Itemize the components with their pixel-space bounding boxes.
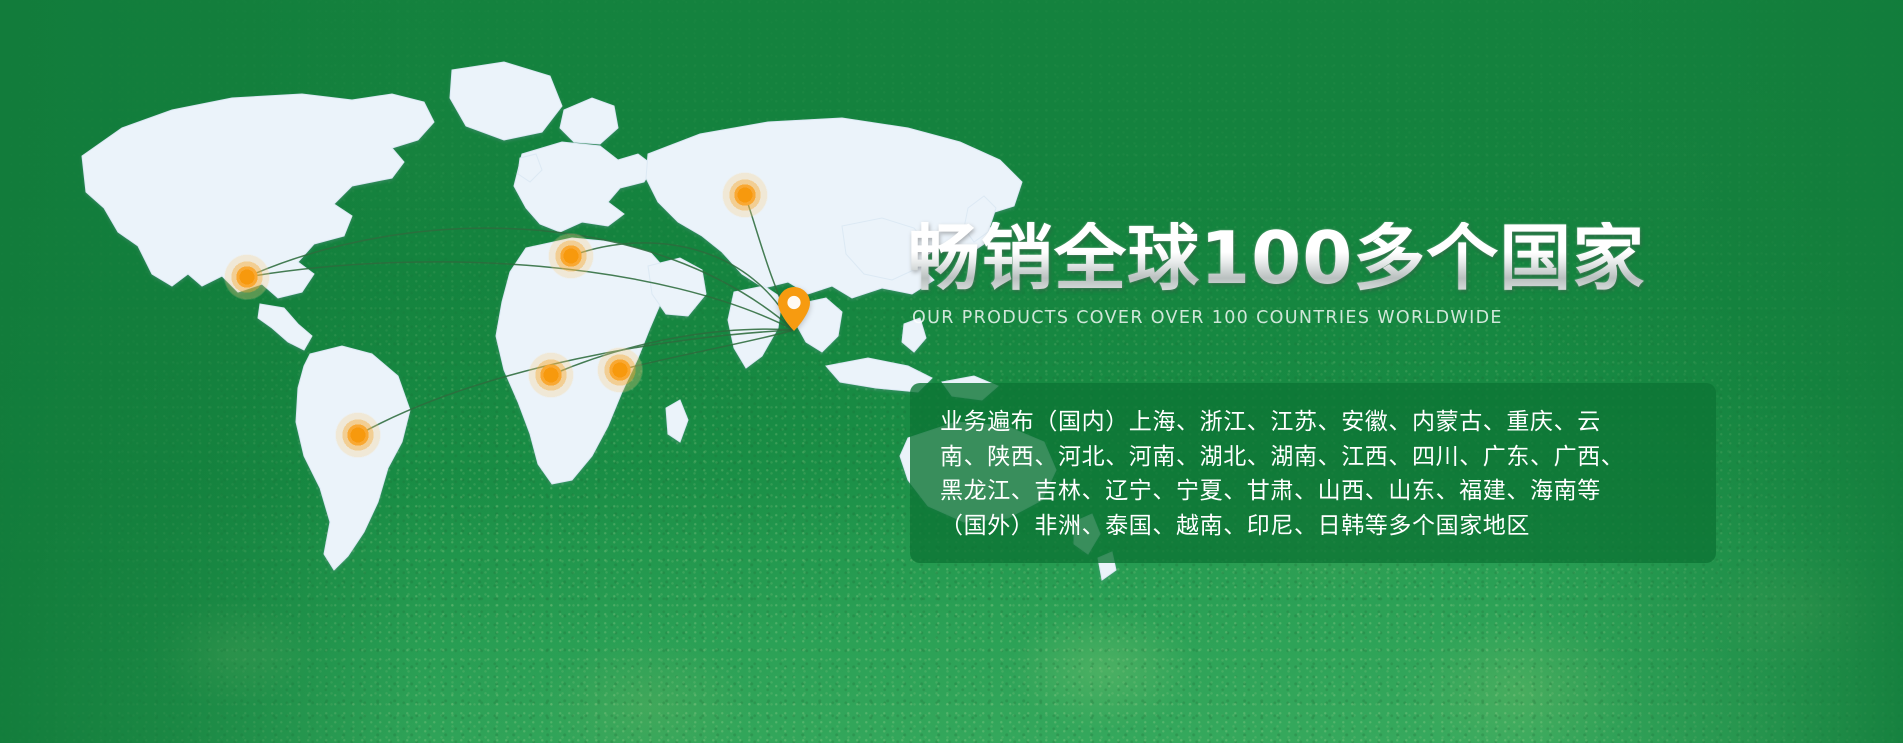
china-hub-pin-icon[interactable] — [777, 286, 811, 332]
coverage-description-box: 业务遍布（国内）上海、浙江、江苏、安徽、内蒙古、重庆、云 南、陕西、河北、河南、… — [910, 383, 1716, 563]
page-subtitle: OUR PRODUCTS COVER OVER 100 COUNTRIES WO… — [912, 308, 1724, 328]
banner-copy: 畅销全球100多个国家 OUR PRODUCTS COVER OVER 100 … — [908, 222, 1724, 328]
coverage-line-4: （国外）非洲、泰国、越南、印尼、日韩等多个国家地区 — [940, 509, 1686, 544]
marker-south-america[interactable] — [335, 412, 381, 458]
coverage-line-3: 黑龙江、吉林、辽宁、宁夏、甘肃、山西、山东、福建、海南等 — [940, 474, 1686, 509]
marker-africa[interactable] — [528, 352, 574, 398]
coverage-line-2: 南、陕西、河北、河南、湖北、湖南、江西、四川、广东、广西、 — [940, 440, 1686, 475]
marker-europe[interactable] — [548, 233, 594, 279]
global-coverage-banner: 畅销全球100多个国家 OUR PRODUCTS COVER OVER 100 … — [0, 0, 1903, 743]
marker-russia[interactable] — [722, 172, 768, 218]
marker-north-america[interactable] — [224, 254, 270, 300]
marker-middle-east[interactable] — [597, 347, 643, 393]
page-title: 畅销全球100多个国家 — [908, 222, 1724, 294]
coverage-line-1: 业务遍布（国内）上海、浙江、江苏、安徽、内蒙古、重庆、云 — [940, 405, 1686, 440]
